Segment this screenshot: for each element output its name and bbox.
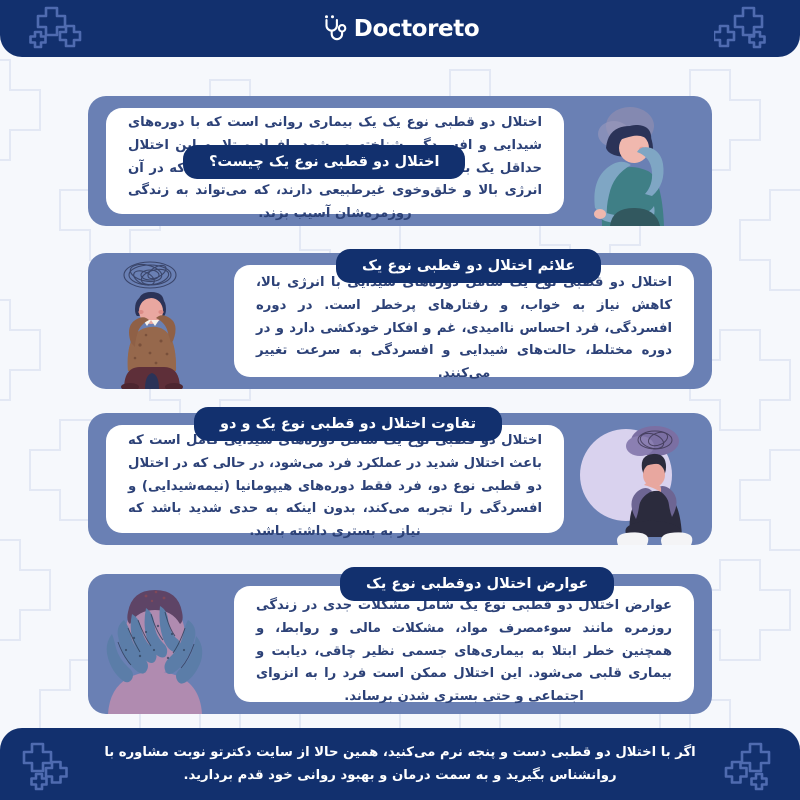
footer-cta-text: اگر با اختلال دو قطبی دست و پنجه نرم می‌… (100, 741, 700, 787)
card-3-title: تفاوت اختلال دو قطبی نوع یک و دو (194, 407, 502, 441)
brand-name: Doctoreto (354, 16, 479, 42)
seated-person-with-storm-cloud-illustration (562, 413, 712, 545)
card-3-body: اختلال دو قطبی نوع یک شامل دوره‌های شیدا… (106, 425, 564, 533)
brand-logo[interactable]: Doctoreto (321, 14, 479, 44)
header-decorative-crosses-right (714, 6, 774, 52)
card-3-text: اختلال دو قطبی نوع یک شامل دوره‌های شیدا… (128, 430, 542, 544)
card-1-title: اختلال دو قطبی نوع یک چیست؟ (183, 145, 465, 179)
hands-covering-face-illustration (88, 574, 238, 714)
card-2-text: اختلال دو قطبی نوع یک شامل دوره‌های شیدا… (256, 272, 672, 386)
page-header: Doctoreto (0, 0, 800, 57)
kneeling-person-with-scribble-cloud-illustration (88, 253, 238, 389)
card-4-title: عوارض اختلال دوقطبی نوع یک (340, 567, 614, 601)
stethoscope-icon (321, 14, 347, 44)
person-hugging-knees-illustration (562, 96, 712, 226)
footer-decorative-crosses-right (716, 742, 778, 792)
card-4-text: عوارض اختلال دو قطبی نوع یک شامل مشکلات … (256, 595, 672, 709)
footer-decorative-crosses-left (22, 742, 84, 792)
page-footer: اگر با اختلال دو قطبی دست و پنجه نرم می‌… (0, 728, 800, 800)
card-2-title: علائم اختلال دو قطبی نوع یک (336, 249, 601, 283)
header-decorative-crosses-left (26, 6, 86, 52)
card-4-body: عوارض اختلال دو قطبی نوع یک شامل مشکلات … (234, 586, 694, 702)
